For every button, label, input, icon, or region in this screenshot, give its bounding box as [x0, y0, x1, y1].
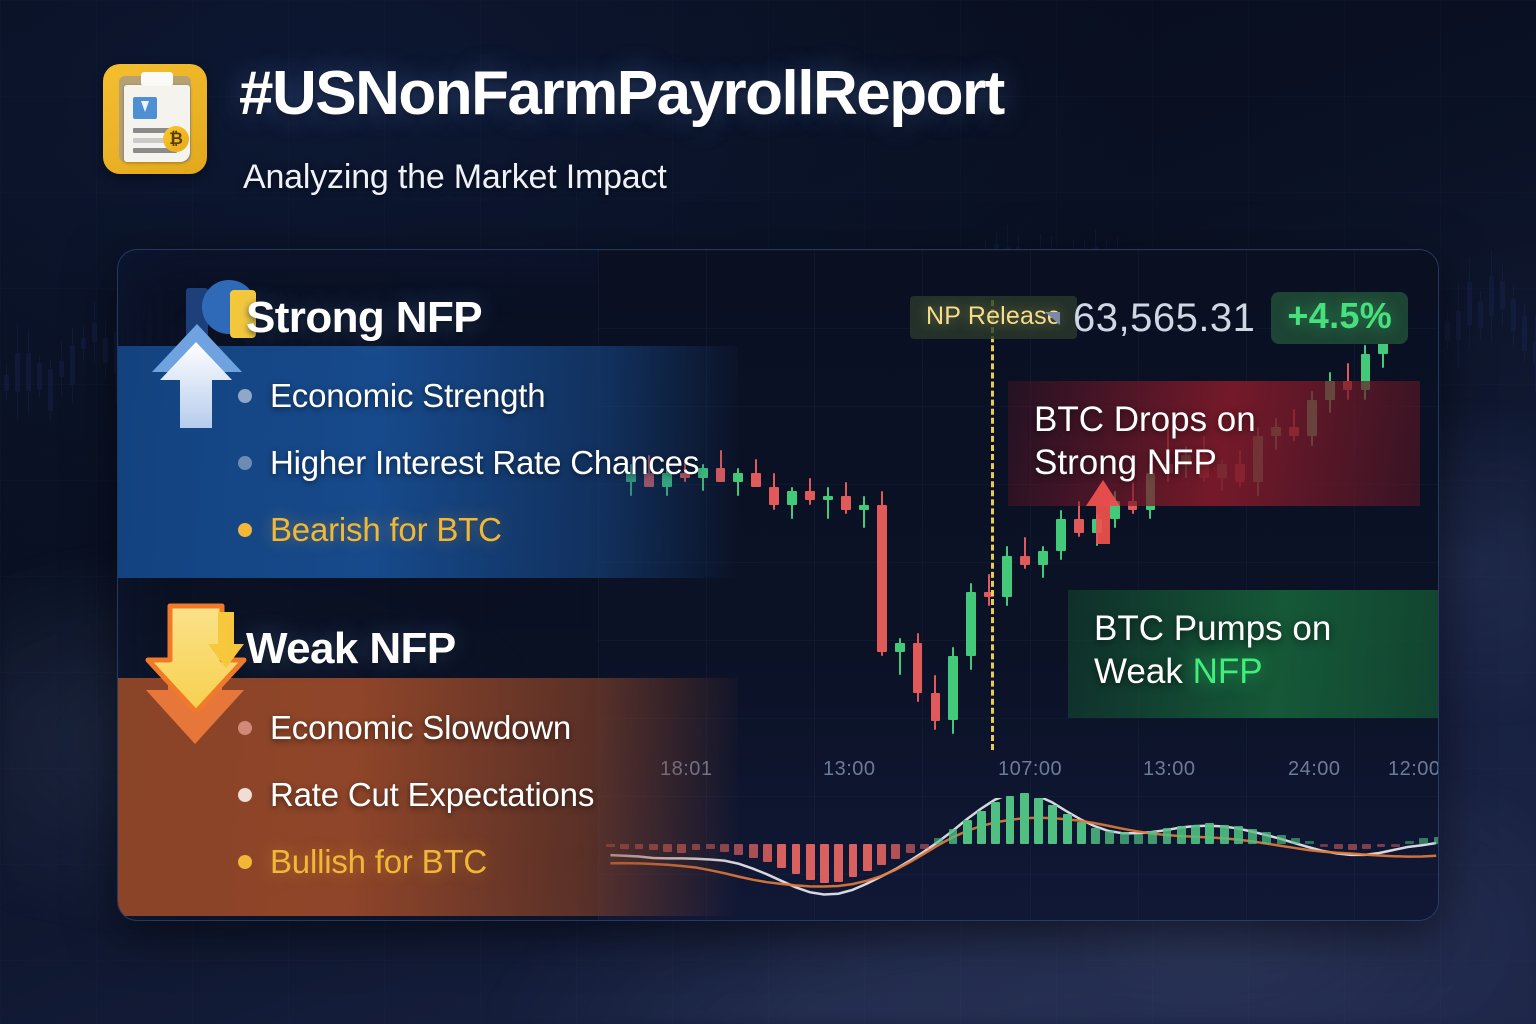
bullet-item: Rate Cut Expectations: [238, 761, 594, 828]
macd-bar: [906, 844, 915, 853]
annotation-line-1: BTC Drops on: [1034, 399, 1394, 442]
macd-bar: [877, 844, 886, 865]
annotation-line-2: Weak NFP: [1094, 651, 1439, 694]
macd-bar: [920, 844, 929, 849]
candle-body: [948, 656, 958, 720]
page-title: #USNonFarmPayrollReport: [239, 58, 1004, 129]
event-vertical-line: [991, 300, 994, 750]
section-title: Strong NFP: [246, 293, 482, 343]
x-axis-label: 12:00: [1388, 758, 1439, 781]
red-up-arrow-icon: [1086, 480, 1120, 544]
macd-bar: [1063, 814, 1072, 844]
macd-bar: [1191, 825, 1200, 845]
price-value: 63,565.31: [1073, 296, 1255, 341]
icon-arrow-down-small: [206, 610, 246, 668]
x-axis-label: 13:00: [1143, 758, 1196, 781]
page-subtitle: Analyzing the Market Impact: [243, 158, 667, 197]
candle-body: [823, 496, 833, 501]
candle-body: [1020, 556, 1030, 565]
candle-body: [877, 505, 887, 652]
macd-bar: [1220, 825, 1229, 845]
macd-bar: [949, 829, 958, 844]
x-axis-label: 107:00: [998, 758, 1062, 781]
macd-bar: [763, 844, 772, 862]
candle-body: [1038, 551, 1048, 565]
section-weak-nfp: Weak NFP Economic SlowdownRate Cut Expec…: [118, 586, 738, 921]
candle-body: [1074, 519, 1084, 533]
bullet-dot-icon: [238, 456, 252, 470]
header: ₿ #USNonFarmPayrollReport Analyzing the …: [103, 58, 1203, 228]
candle-wick: [988, 574, 990, 606]
bullet-label: Bullish for BTC: [270, 843, 487, 881]
macd-bar: [749, 844, 758, 858]
macd-bar: [1205, 823, 1214, 844]
candle-body: [913, 643, 923, 693]
strong-nfp-bullets: Economic StrengthHigher Interest Rate Ch…: [238, 362, 699, 563]
candle-body: [895, 643, 905, 652]
bullet-label: Economic Strength: [270, 377, 545, 415]
macd-bar: [863, 844, 872, 871]
bullet-label: Bearish for BTC: [270, 511, 502, 549]
macd-bar: [1091, 828, 1100, 845]
macd-bar: [1262, 832, 1271, 844]
macd-bar: [1434, 837, 1439, 845]
candle-body: [787, 491, 797, 505]
price-readout: 63,565.31 +4.5%: [1046, 292, 1408, 344]
bullet-item: Economic Slowdown: [238, 694, 594, 761]
macd-bar: [1148, 831, 1157, 845]
macd-bar: [1020, 793, 1029, 844]
macd-bar: [1048, 805, 1057, 844]
icon-arrow-up-body: [160, 342, 232, 428]
macd-bar: [963, 820, 972, 844]
macd-bar: [1077, 822, 1086, 845]
macd-bar: [1277, 835, 1286, 844]
clipboard-down-arrow-icon: [141, 101, 149, 112]
macd-bar: [1034, 798, 1043, 845]
macd-bar: [849, 844, 858, 877]
candle-wick: [827, 487, 829, 519]
bullet-item: Higher Interest Rate Chances: [238, 429, 699, 496]
macd-bar: [806, 844, 815, 880]
macd-bar: [1248, 829, 1257, 844]
candle-wick: [863, 496, 865, 528]
main-card: NP Release 63,565.31 +4.5% BTC Drops on …: [117, 249, 1439, 921]
annotation-line-2-accent: NFP: [1193, 652, 1263, 691]
annotation-line-2-plain: Weak: [1094, 652, 1193, 691]
macd-bar: [1377, 844, 1386, 847]
bullet-dot-icon: [238, 855, 252, 869]
macd-bar: [834, 844, 843, 882]
macd-bar: [1006, 796, 1015, 844]
macd-bar: [820, 844, 829, 883]
annotation-btc-drops: BTC Drops on Strong NFP: [1008, 381, 1420, 506]
bullet-item: Bearish for BTC: [238, 496, 699, 563]
down-arrow-icon: [140, 602, 250, 732]
annotation-line-1: BTC Pumps on: [1094, 608, 1439, 651]
bullet-dot-icon: [238, 389, 252, 403]
macd-bar: [1320, 844, 1329, 847]
macd-bar: [792, 844, 801, 874]
annotation-btc-pumps: BTC Pumps on Weak NFP: [1068, 590, 1439, 718]
candle-body: [751, 473, 761, 487]
macd-bar: [977, 811, 986, 844]
macd-bar: [934, 838, 943, 844]
up-arrow-icon: [150, 280, 242, 430]
weak-nfp-bullets: Economic SlowdownRate Cut ExpectationsBu…: [238, 694, 594, 895]
macd-bar: [1405, 841, 1414, 844]
x-axis-label: 13:00: [823, 758, 876, 781]
bullet-label: Economic Slowdown: [270, 709, 571, 747]
price-caret-icon: [1045, 312, 1060, 325]
bullet-item: Bullish for BTC: [238, 828, 594, 895]
bullet-dot-icon: [238, 523, 252, 537]
macd-bar: [1419, 838, 1428, 844]
macd-bar: [1134, 834, 1143, 845]
candle-body: [805, 491, 815, 500]
bullet-label: Rate Cut Expectations: [270, 776, 594, 814]
bitcoin-coin-icon: ₿: [163, 126, 189, 152]
change-badge: +4.5%: [1271, 292, 1408, 344]
macd-bar: [1163, 828, 1172, 845]
macd-bar: [1305, 841, 1314, 844]
candle-body: [1002, 556, 1012, 597]
candle-body: [859, 505, 869, 510]
candle-body: [931, 693, 941, 721]
macd-bar: [1362, 844, 1371, 849]
macd-bar: [1105, 831, 1114, 845]
bullet-item: Economic Strength: [238, 362, 699, 429]
macd-bar: [1348, 844, 1357, 850]
macd-bar: [1334, 844, 1343, 849]
bullet-dot-icon: [238, 788, 252, 802]
macd-bar: [1291, 838, 1300, 844]
bullet-label: Higher Interest Rate Chances: [270, 444, 699, 482]
macd-bar: [891, 844, 900, 859]
candle-body: [769, 487, 779, 505]
annotation-line-2: Strong NFP: [1034, 442, 1394, 485]
x-axis-label: 24:00: [1288, 758, 1341, 781]
macd-bar: [1120, 832, 1129, 844]
candle-body: [1056, 519, 1066, 551]
section-title: Weak NFP: [246, 624, 456, 674]
macd-bar: [1177, 826, 1186, 844]
macd-bar: [991, 802, 1000, 844]
macd-bar: [1234, 826, 1243, 844]
clipboard-clip: [141, 72, 173, 86]
clipboard-report-icon: ₿: [103, 64, 207, 174]
candle-body: [841, 496, 851, 510]
bullet-dot-icon: [238, 721, 252, 735]
macd-bar: [777, 844, 786, 868]
macd-bar: [1391, 844, 1400, 847]
candle-body: [966, 592, 976, 656]
section-strong-nfp: Strong NFP Economic StrengthHigher Inter…: [118, 250, 738, 586]
